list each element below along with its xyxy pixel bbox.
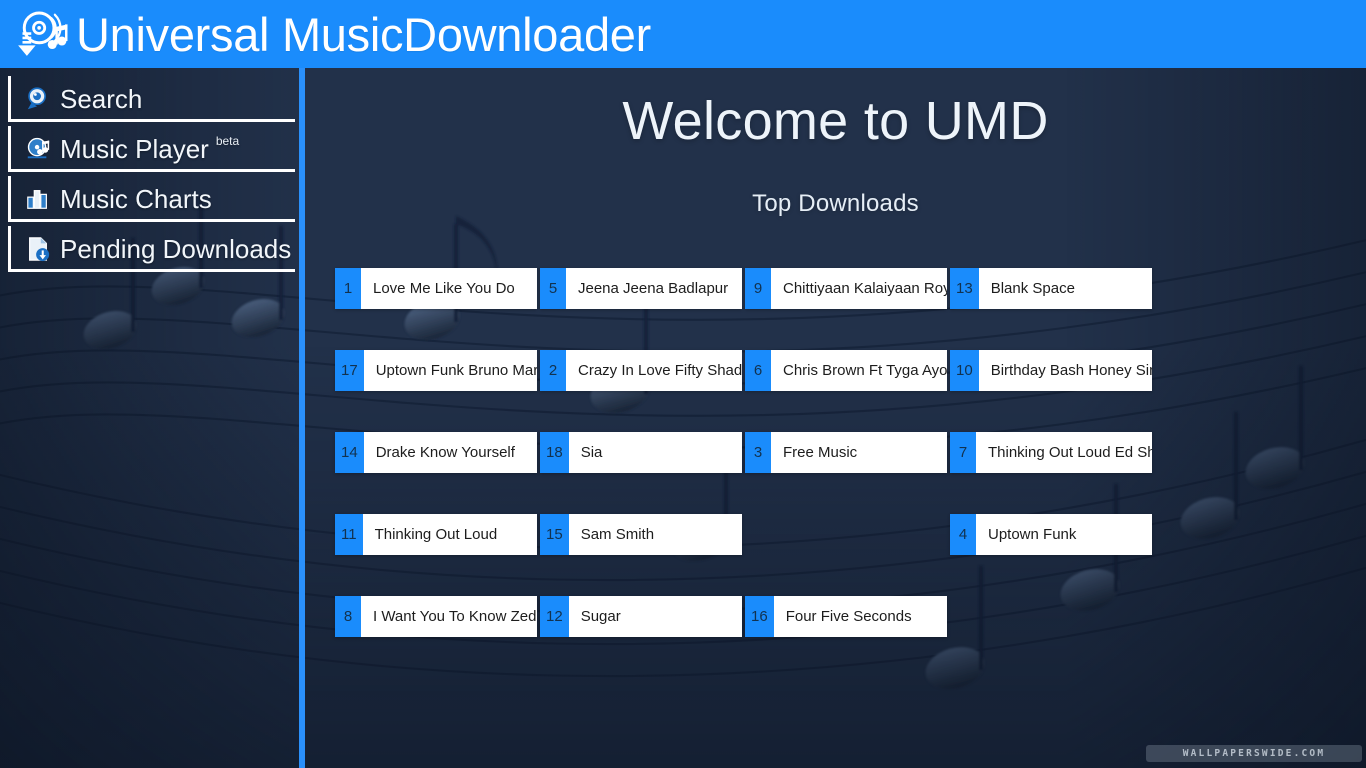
track-item[interactable]: 4Uptown Funk — [950, 514, 1152, 555]
track-item[interactable]: 15Sam Smith — [540, 514, 742, 555]
cd-music-download-icon — [12, 6, 68, 62]
bar-chart-icon — [25, 186, 51, 212]
grid-cell-empty — [950, 596, 1152, 637]
track-item[interactable]: 6Chris Brown Ft Tyga Ayo — [745, 350, 947, 391]
track-title: Free Music — [771, 432, 947, 473]
track-rank: 9 — [745, 268, 771, 309]
track-rank: 11 — [335, 514, 363, 555]
track-title: Sia — [569, 432, 742, 473]
grid-cell: 4Uptown Funk — [950, 514, 1152, 555]
track-rank: 16 — [745, 596, 774, 637]
track-item[interactable]: 8I Want You To Know Zedd — [335, 596, 537, 637]
track-item[interactable]: 18Sia — [540, 432, 742, 473]
grid-cell: 13Blank Space — [950, 268, 1152, 309]
track-rank: 8 — [335, 596, 361, 637]
grid-cell: 2Crazy In Love Fifty Shades — [540, 350, 742, 391]
track-item[interactable]: 3Free Music — [745, 432, 947, 473]
grid-cell: 11Thinking Out Loud — [335, 514, 537, 555]
sidebar-item-music-player[interactable]: Music Player beta — [8, 126, 292, 172]
track-rank: 7 — [950, 432, 976, 473]
track-rank: 18 — [540, 432, 569, 473]
sidebar-item-pending-downloads[interactable]: Pending Downloads — [8, 226, 292, 272]
track-item[interactable]: 14Drake Know Yourself — [335, 432, 537, 473]
track-title: I Want You To Know Zedd — [361, 596, 537, 637]
file-download-icon — [25, 236, 51, 262]
grid-cell: 9Chittiyaan Kalaiyaan Roy — [745, 268, 947, 309]
track-item[interactable]: 17Uptown Funk Bruno Mars — [335, 350, 537, 391]
sidebar-item-music-charts[interactable]: Music Charts — [8, 176, 292, 222]
sidebar-item-label: Search — [60, 86, 142, 112]
track-item[interactable]: 1Love Me Like You Do — [335, 268, 537, 309]
track-rank: 1 — [335, 268, 361, 309]
track-rank: 15 — [540, 514, 569, 555]
app-title: Universal MusicDownloader — [76, 11, 651, 58]
grid-cell: 18Sia — [540, 432, 742, 473]
app-header: Universal MusicDownloader — [0, 0, 1366, 68]
grid-cell: 12Sugar — [540, 596, 742, 637]
grid-cell: 3Free Music — [745, 432, 947, 473]
track-item[interactable]: 9Chittiyaan Kalaiyaan Roy — [745, 268, 947, 309]
grid-cell: 17Uptown Funk Bruno Mars — [335, 350, 537, 391]
grid-cell: 15Sam Smith — [540, 514, 742, 555]
top-downloads-grid: 1Love Me Like You Do 5Jeena Jeena Badlap… — [335, 268, 1366, 637]
sidebar-item-label: Music Player — [60, 136, 209, 162]
track-rank: 12 — [540, 596, 569, 637]
track-rank: 5 — [540, 268, 566, 309]
track-rank: 4 — [950, 514, 976, 555]
track-title: Jeena Jeena Badlapur — [566, 268, 742, 309]
grid-cell: 16Four Five Seconds — [745, 596, 947, 637]
track-rank: 3 — [745, 432, 771, 473]
track-rank: 17 — [335, 350, 364, 391]
track-title: Sugar — [569, 596, 742, 637]
track-title: Birthday Bash Honey Singh — [979, 350, 1152, 391]
search-icon — [25, 86, 51, 112]
page-title: Welcome to UMD — [305, 94, 1366, 148]
track-rank: 6 — [745, 350, 771, 391]
track-title: Thinking Out Loud — [363, 514, 537, 555]
track-item[interactable]: 12Sugar — [540, 596, 742, 637]
track-title: Love Me Like You Do — [361, 268, 537, 309]
app-window: Universal MusicDownloader Search — [0, 0, 1366, 768]
sidebar-item-beta-badge: beta — [216, 135, 239, 147]
track-rank: 2 — [540, 350, 566, 391]
sidebar-nav: Search Music Player beta — [0, 68, 298, 768]
track-title: Chittiyaan Kalaiyaan Roy — [771, 268, 947, 309]
sidebar-item-search[interactable]: Search — [8, 76, 292, 122]
track-title: Crazy In Love Fifty Shades — [566, 350, 742, 391]
track-title: Uptown Funk Bruno Mars — [364, 350, 537, 391]
grid-cell: 5Jeena Jeena Badlapur — [540, 268, 742, 309]
grid-cell: 8I Want You To Know Zedd — [335, 596, 537, 637]
track-item[interactable]: 5Jeena Jeena Badlapur — [540, 268, 742, 309]
track-item[interactable]: 10Birthday Bash Honey Singh — [950, 350, 1152, 391]
grid-cell: 14Drake Know Yourself — [335, 432, 537, 473]
track-item[interactable]: 2Crazy In Love Fifty Shades — [540, 350, 742, 391]
disc-note-icon — [25, 136, 51, 162]
track-title: Thinking Out Loud Ed Sheeran — [976, 432, 1152, 473]
main-content: Welcome to UMD Top Downloads 1Love Me Li… — [305, 68, 1366, 768]
track-title: Drake Know Yourself — [364, 432, 537, 473]
track-rank: 14 — [335, 432, 364, 473]
track-title: Uptown Funk — [976, 514, 1152, 555]
track-title: Sam Smith — [569, 514, 742, 555]
sidebar-divider — [299, 68, 305, 768]
track-item[interactable]: 16Four Five Seconds — [745, 596, 947, 637]
track-title: Chris Brown Ft Tyga Ayo — [771, 350, 947, 391]
sidebar-item-label: Pending Downloads — [60, 236, 291, 262]
section-title: Top Downloads — [305, 192, 1366, 216]
grid-cell: 10Birthday Bash Honey Singh — [950, 350, 1152, 391]
grid-cell: 1Love Me Like You Do — [335, 268, 537, 309]
track-item[interactable]: 13Blank Space — [950, 268, 1152, 309]
watermark: WALLPAPERSWIDE.COM — [1146, 745, 1362, 762]
track-item[interactable]: 7Thinking Out Loud Ed Sheeran — [950, 432, 1152, 473]
grid-cell-empty — [745, 514, 947, 555]
track-rank: 13 — [950, 268, 979, 309]
grid-cell: 6Chris Brown Ft Tyga Ayo — [745, 350, 947, 391]
track-title: Blank Space — [979, 268, 1152, 309]
track-item[interactable]: 11Thinking Out Loud — [335, 514, 537, 555]
sidebar-item-label: Music Charts — [60, 186, 212, 212]
track-rank: 10 — [950, 350, 979, 391]
track-title: Four Five Seconds — [774, 596, 947, 637]
grid-cell: 7Thinking Out Loud Ed Sheeran — [950, 432, 1152, 473]
